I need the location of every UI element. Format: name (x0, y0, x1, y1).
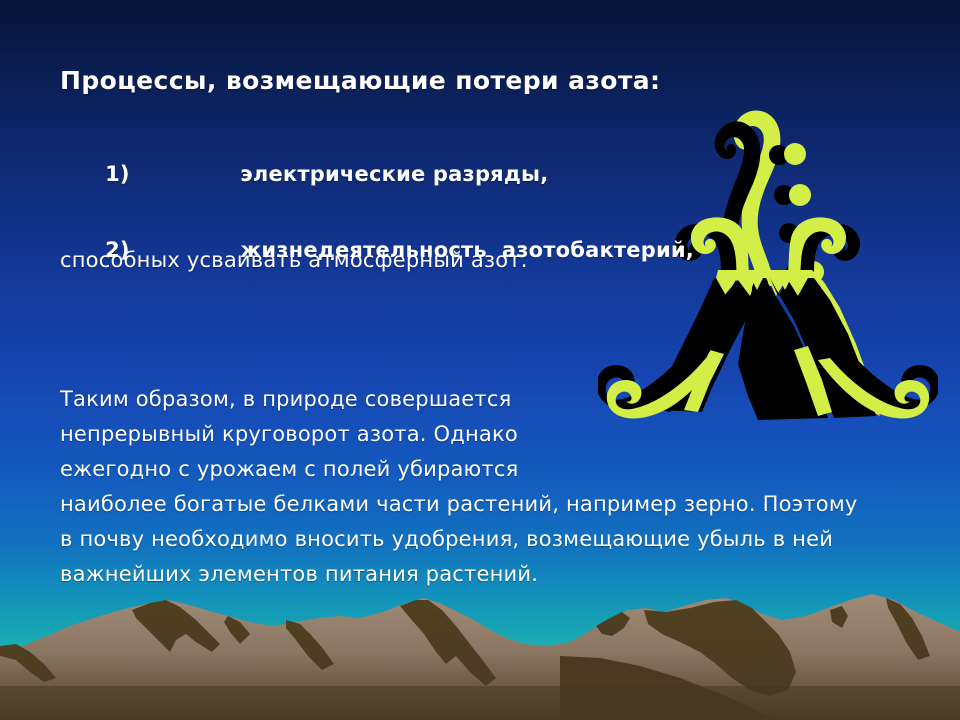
list-item-2-continuation: способных усваивать атмосферный азот. (60, 248, 528, 272)
slide-text-layer: Процессы, возмещающие потери азота: 1) э… (0, 0, 960, 720)
paragraph-line-1: Таким образом, в природе совершается (60, 387, 511, 411)
list-item-1: 1) электрические разряды, (60, 138, 548, 210)
presentation-slide: Процессы, возмещающие потери азота: 1) э… (0, 0, 960, 720)
paragraph-line-4: наиболее богатые белками части растений,… (60, 492, 858, 516)
paragraph-line-5: в почву необходимо вносить удобрения, во… (60, 527, 833, 551)
list-item-1-marker: 1) (105, 162, 130, 186)
paragraph-line-3: ежегодно с урожаем с полей убираются (60, 457, 518, 481)
paragraph-line-2: непрерывный круговорот азота. Однако (60, 422, 518, 446)
paragraph-line-6: важнейших элементов питания растений. (60, 562, 538, 586)
list-item-1-text: электрические разряды, (240, 162, 548, 186)
slide-title: Процессы, возмещающие потери азота: (60, 66, 660, 95)
list-item-1-gap (130, 162, 241, 186)
